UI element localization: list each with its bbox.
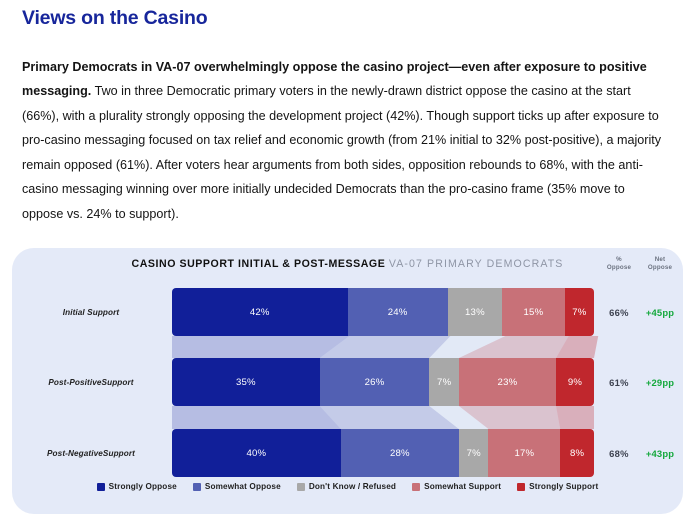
legend-label: Somewhat Oppose [205, 482, 281, 491]
stacked-bar[interactable]: 40%28%7%17%8% [172, 429, 594, 477]
legend-item-strongly-support[interactable]: Strongly Support [517, 482, 598, 491]
bar-segment-dont-know[interactable]: 13% [448, 288, 502, 336]
legend-swatch-icon [97, 483, 105, 491]
bar-segment-strongly-oppose[interactable]: 35% [172, 358, 320, 406]
row-label-line2: Support [102, 377, 134, 388]
bar-segment-somewhat-support[interactable]: 17% [488, 429, 560, 477]
legend-item-somewhat-oppose[interactable]: Somewhat Oppose [193, 482, 281, 491]
bar-segment-dont-know[interactable]: 7% [429, 358, 459, 406]
narrative-body: Two in three Democratic primary voters i… [22, 84, 661, 221]
row-label-line1: Post-Positive [48, 377, 101, 388]
legend-swatch-icon [193, 483, 201, 491]
chart-plot-area: Initial Support42%24%13%15%7%66%+45ppPos… [12, 248, 683, 514]
flow-ribbon-somewhat-oppose [320, 406, 459, 429]
flow-ribbon-somewhat-support [459, 406, 560, 429]
page-title: Views on the Casino [22, 7, 207, 30]
bar-segment-somewhat-oppose[interactable]: 26% [320, 358, 430, 406]
chart-row: Initial Support42%24%13%15%7%66%+45pp [12, 288, 683, 336]
legend-item-dont-know[interactable]: Don't Know / Refused [297, 482, 396, 491]
row-label: Post-NegativeSupport [18, 429, 164, 477]
flow-ribbon-dont-know [429, 406, 488, 429]
flow-ribbon-strongly-support [556, 406, 594, 429]
flow-ribbon-dont-know [429, 336, 505, 358]
chart-legend: Strongly OpposeSomewhat OpposeDon't Know… [12, 482, 683, 491]
row-label: Post-PositiveSupport [18, 358, 164, 406]
bar-segment-strongly-support[interactable]: 8% [560, 429, 594, 477]
flow-ribbon-strongly-oppose [172, 336, 349, 358]
legend-label: Strongly Oppose [109, 482, 177, 491]
legend-swatch-icon [412, 483, 420, 491]
bar-segment-somewhat-oppose[interactable]: 24% [348, 288, 448, 336]
bar-segment-somewhat-support[interactable]: 15% [502, 288, 565, 336]
chart-panel: CASINO SUPPORT INITIAL & POST-MESSAGE VA… [12, 248, 683, 514]
chart-row: Post-NegativeSupport40%28%7%17%8%68%+43p… [12, 429, 683, 477]
bar-segment-dont-know[interactable]: 7% [459, 429, 489, 477]
legend-swatch-icon [297, 483, 305, 491]
legend-item-strongly-oppose[interactable]: Strongly Oppose [97, 482, 177, 491]
bar-segment-strongly-support[interactable]: 7% [565, 288, 594, 336]
row-pct-oppose: 68% [600, 429, 638, 477]
row-pct-oppose: 66% [600, 288, 638, 336]
legend-label: Don't Know / Refused [309, 482, 396, 491]
flow-ribbon-strongly-support [556, 336, 598, 358]
narrative-paragraph: Primary Democrats in VA-07 overwhelmingl… [22, 55, 667, 227]
row-label-line1: Post-Negative [47, 448, 103, 459]
flow-ribbon-somewhat-oppose [320, 336, 451, 358]
row-label-line1: Initial Support [63, 307, 120, 318]
bar-segment-strongly-oppose[interactable]: 40% [172, 429, 341, 477]
row-net-oppose: +43pp [638, 429, 682, 477]
row-net-oppose: +29pp [638, 358, 682, 406]
stacked-bar[interactable]: 35%26%7%23%9% [172, 358, 594, 406]
row-label: Initial Support [18, 288, 164, 336]
row-label-line2: Support [103, 448, 135, 459]
legend-swatch-icon [517, 483, 525, 491]
row-net-oppose: +45pp [638, 288, 682, 336]
chart-row: Post-PositiveSupport35%26%7%23%9%61%+29p… [12, 358, 683, 406]
bar-segment-strongly-oppose[interactable]: 42% [172, 288, 348, 336]
legend-label: Strongly Support [529, 482, 598, 491]
legend-label: Somewhat Support [424, 482, 501, 491]
legend-item-somewhat-support[interactable]: Somewhat Support [412, 482, 501, 491]
bar-segment-somewhat-oppose[interactable]: 28% [341, 429, 459, 477]
bar-segment-strongly-support[interactable]: 9% [556, 358, 594, 406]
flow-ribbon-somewhat-support [459, 336, 569, 358]
row-pct-oppose: 61% [600, 358, 638, 406]
bar-segment-somewhat-support[interactable]: 23% [459, 358, 556, 406]
flow-ribbon-strongly-oppose [172, 406, 341, 429]
stacked-bar[interactable]: 42%24%13%15%7% [172, 288, 594, 336]
